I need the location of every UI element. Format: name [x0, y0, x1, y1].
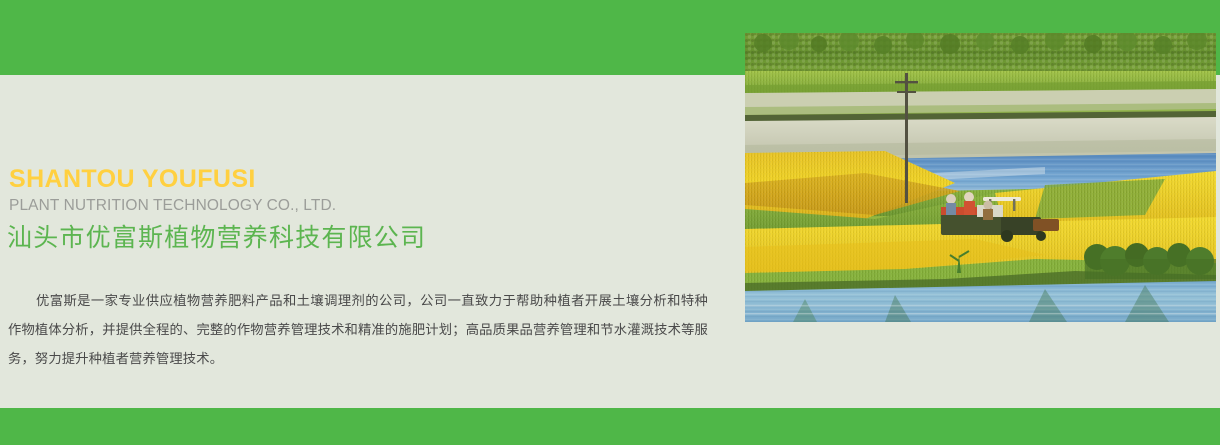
farmland-photo	[745, 33, 1216, 322]
farmland-photo-illustration	[745, 33, 1216, 322]
company-name-english: SHANTOU YOUFUSI	[9, 167, 256, 192]
page-root: SHANTOU YOUFUSI PLANT NUTRITION TECHNOLO…	[0, 0, 1220, 445]
intro-content-column: SHANTOU YOUFUSI PLANT NUTRITION TECHNOLO…	[0, 75, 745, 408]
bottom-brand-bar	[0, 408, 1220, 445]
company-name-chinese: 汕头市优富斯植物营养科技有限公司	[7, 223, 426, 253]
company-subtitle-english: PLANT NUTRITION TECHNOLOGY CO., LTD.	[9, 198, 336, 214]
company-intro-paragraph: 优富斯是一家专业供应植物营养肥料产品和土壤调理剂的公司，公司一直致力于帮助种植者…	[8, 286, 708, 373]
